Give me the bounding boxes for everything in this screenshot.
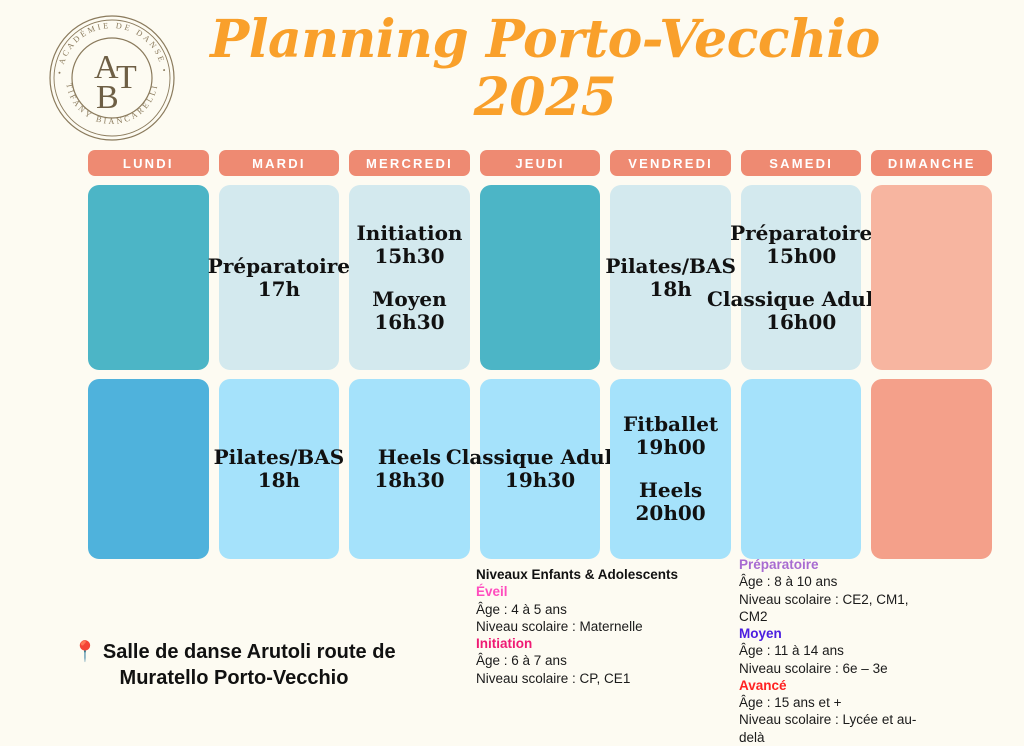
slot-column-mercredi: Initiation15h30Moyen16h30 (349, 185, 470, 370)
day-column-jeudi: JEUDI (480, 150, 601, 176)
day-header-mardi[interactable]: MARDI (219, 150, 340, 176)
day-column-dimanche: DIMANCHE (871, 150, 992, 176)
slot-column-jeudi (480, 185, 601, 370)
day-column-vendredi: VENDREDI (610, 150, 731, 176)
class-name: Heels (374, 446, 444, 469)
class-entry: Initiation15h30 (356, 222, 462, 268)
class-time: 18h (214, 469, 345, 492)
class-entry: Préparatoire15h00 (730, 222, 872, 268)
day-header-mercredi[interactable]: MERCREDI (349, 150, 470, 176)
day-header-row: LUNDIMARDIMERCREDIJEUDIVENDREDISAMEDIDIM… (88, 150, 992, 176)
slot-column-jeudi: Classique Adulte19h30 (480, 379, 601, 559)
class-name: Préparatoire (208, 255, 350, 278)
academy-logo: • ACADÉMIE DE DANSE • TIFANY BIANCARELLI… (42, 8, 182, 148)
legend-school-level: Niveau scolaire : CE2, CM1, CM2 (739, 591, 939, 626)
class-time: 15h00 (730, 245, 872, 268)
slot-column-lundi (88, 379, 209, 559)
class-entry: Heels20h00 (635, 479, 705, 525)
legend-school-level: Niveau scolaire : CP, CE1 (476, 670, 726, 687)
day-header-samedi[interactable]: SAMEDI (741, 150, 862, 176)
schedule-row-2: Pilates/BAS18hHeels18h30Classique Adulte… (88, 379, 992, 559)
address-line-1: 📍 Salle de danse Arutoli route de (34, 640, 434, 666)
slot-column-lundi (88, 185, 209, 370)
legend-advanced-levels: PréparatoireÂge : 8 à 10 ansNiveau scola… (739, 556, 939, 746)
legend-age: Âge : 11 à 14 ans (739, 642, 939, 659)
legend-age: Âge : 6 à 7 ans (476, 652, 726, 669)
legend-school-level: Niveau scolaire : Lycée et au-delà (739, 711, 939, 746)
slot-column-vendredi: Pilates/BAS18h (610, 185, 731, 370)
page-title: Planning Porto-Vecchio 2025 (195, 14, 895, 124)
day-column-mercredi: MERCREDI (349, 150, 470, 176)
class-time: 17h (208, 278, 350, 301)
day-header-lundi[interactable]: LUNDI (88, 150, 209, 176)
class-entry: Moyen16h30 (372, 288, 446, 334)
class-cell-vendredi-row2[interactable]: Fitballet19h00Heels20h00 (610, 379, 731, 559)
class-cell-dimanche-row1[interactable] (871, 185, 992, 370)
legend-school-level: Niveau scolaire : 6e – 3e (739, 660, 939, 677)
class-name: Classique Adulte (707, 288, 895, 311)
logo-emblem-icon: • ACADÉMIE DE DANSE • TIFANY BIANCARELLI… (42, 8, 182, 148)
class-time: 19h00 (623, 436, 718, 459)
address-line-2: Muratello Porto-Vecchio (34, 666, 434, 692)
location-pin-icon: 📍 (72, 641, 97, 663)
class-name: Moyen (372, 288, 446, 311)
address-text-1: Salle de danse Arutoli route de (103, 641, 396, 663)
slot-column-samedi (741, 379, 862, 559)
class-entry: Classique Adulte19h30 (446, 446, 634, 492)
svg-text:T: T (116, 59, 137, 96)
legend-level-name: Initiation (476, 635, 726, 652)
schedule-row-1: Préparatoire17hInitiation15h30Moyen16h30… (88, 185, 992, 370)
day-header-jeudi[interactable]: JEUDI (480, 150, 601, 176)
day-column-lundi: LUNDI (88, 150, 209, 176)
slot-column-mardi: Pilates/BAS18h (219, 379, 340, 559)
slot-column-vendredi: Fitballet19h00Heels20h00 (610, 379, 731, 559)
class-name: Pilates/BAS (214, 446, 345, 469)
class-name: Heels (635, 479, 705, 502)
legend-age: Âge : 4 à 5 ans (476, 601, 726, 618)
class-cell-mardi-row1[interactable]: Préparatoire17h (219, 185, 340, 370)
slot-column-dimanche (871, 379, 992, 559)
class-time: 15h30 (356, 245, 462, 268)
class-time: 16h00 (707, 311, 895, 334)
legend-level-name: Préparatoire (739, 556, 939, 573)
class-entry: Heels18h30 (374, 446, 444, 492)
legend-age: Âge : 15 ans et + (739, 694, 939, 711)
class-cell-jeudi-row1[interactable] (480, 185, 601, 370)
class-name: Initiation (356, 222, 462, 245)
day-column-samedi: SAMEDI (741, 150, 862, 176)
legend-children-teens: Niveaux Enfants & Adolescents ÉveilÂge :… (476, 566, 726, 687)
class-cell-samedi-row2[interactable] (741, 379, 862, 559)
slot-column-mardi: Préparatoire17h (219, 185, 340, 370)
title-line-primary: Planning Porto-Vecchio (195, 14, 895, 66)
legend-level-name: Avancé (739, 677, 939, 694)
class-cell-lundi-row1[interactable] (88, 185, 209, 370)
class-time: 19h30 (446, 469, 634, 492)
legend-age: Âge : 8 à 10 ans (739, 573, 939, 590)
class-time: 18h30 (374, 469, 444, 492)
svg-text:B: B (96, 79, 119, 116)
class-cell-vendredi-row1[interactable]: Pilates/BAS18h (610, 185, 731, 370)
class-cell-jeudi-row2[interactable]: Classique Adulte19h30 (480, 379, 601, 559)
day-column-mardi: MARDI (219, 150, 340, 176)
class-time: 16h30 (372, 311, 446, 334)
class-cell-mardi-row2[interactable]: Pilates/BAS18h (219, 379, 340, 559)
class-entry: Fitballet19h00 (623, 413, 718, 459)
class-entry: Pilates/BAS18h (214, 446, 345, 492)
class-entry: Préparatoire17h (208, 255, 350, 301)
venue-address: 📍 Salle de danse Arutoli route de Murate… (34, 640, 434, 691)
class-name: Fitballet (623, 413, 718, 436)
day-header-vendredi[interactable]: VENDREDI (610, 150, 731, 176)
class-name: Classique Adulte (446, 446, 634, 469)
legend-heading: Niveaux Enfants & Adolescents (476, 566, 726, 583)
class-cell-mercredi-row1[interactable]: Initiation15h30Moyen16h30 (349, 185, 470, 370)
slot-column-samedi: Préparatoire15h00Classique Adulte16h00 (741, 185, 862, 370)
legend-level-name: Moyen (739, 625, 939, 642)
title-line-year: 2025 (195, 72, 895, 124)
class-name: Préparatoire (730, 222, 872, 245)
legend-level-name: Éveil (476, 583, 726, 600)
weekly-schedule-grid: LUNDIMARDIMERCREDIJEUDIVENDREDISAMEDIDIM… (88, 150, 992, 559)
class-cell-lundi-row2[interactable] (88, 379, 209, 559)
class-entry: Classique Adulte16h00 (707, 288, 895, 334)
day-header-dimanche[interactable]: DIMANCHE (871, 150, 992, 176)
slot-column-dimanche (871, 185, 992, 370)
class-name: Pilates/BAS (605, 255, 736, 278)
legend-school-level: Niveau scolaire : Maternelle (476, 618, 726, 635)
class-cell-samedi-row1[interactable]: Préparatoire15h00Classique Adulte16h00 (741, 185, 862, 370)
class-time: 20h00 (635, 502, 705, 525)
class-cell-dimanche-row2[interactable] (871, 379, 992, 559)
